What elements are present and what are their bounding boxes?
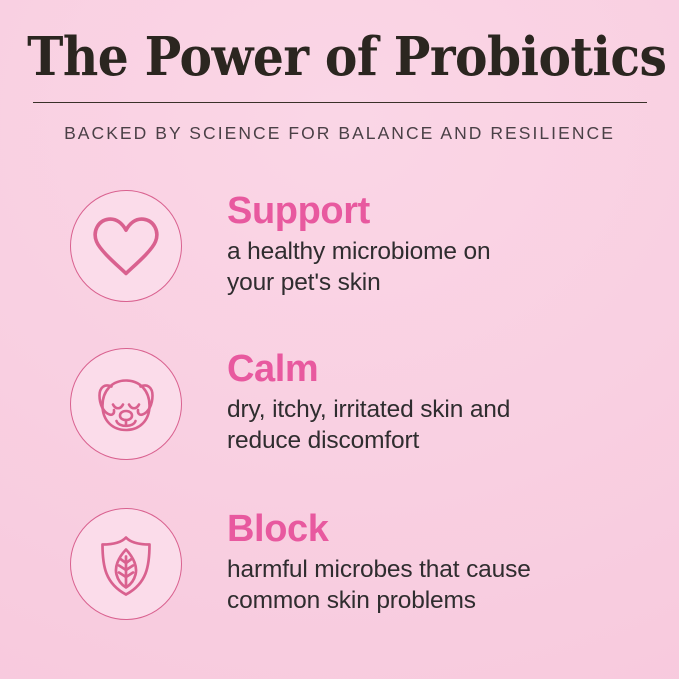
- feature-row-block: Block harmful microbes that cause common…: [70, 506, 615, 624]
- feature-heading: Support: [227, 189, 615, 233]
- feature-heading: Calm: [227, 347, 615, 391]
- feature-row-support: Support a healthy microbiome on your pet…: [70, 188, 615, 306]
- icon-badge-support: [70, 190, 182, 302]
- icon-badge-calm: [70, 348, 182, 460]
- feature-text-support: Support a healthy microbiome on your pet…: [182, 188, 615, 298]
- page-title: The Power of Probiotics: [27, 26, 652, 88]
- probiotics-infographic: The Power of Probiotics BACKED BY SCIENC…: [0, 0, 679, 679]
- feature-body: harmful microbes that cause common skin …: [227, 554, 615, 616]
- feature-row-calm: Calm dry, itchy, irritated skin and redu…: [70, 346, 615, 464]
- feature-body: dry, itchy, irritated skin and reduce di…: [227, 394, 615, 456]
- page-subtitle: BACKED BY SCIENCE FOR BALANCE AND RESILI…: [0, 122, 679, 144]
- title-divider: [33, 102, 647, 103]
- feature-text-calm: Calm dry, itchy, irritated skin and redu…: [182, 346, 615, 456]
- dog-face-icon: [88, 367, 164, 441]
- feature-heading: Block: [227, 507, 615, 551]
- icon-badge-block: [70, 508, 182, 620]
- feature-body: a healthy microbiome on your pet's skin: [227, 236, 615, 298]
- shield-leaf-icon: [91, 526, 161, 602]
- feature-text-block: Block harmful microbes that cause common…: [182, 506, 615, 616]
- heart-icon: [90, 213, 162, 279]
